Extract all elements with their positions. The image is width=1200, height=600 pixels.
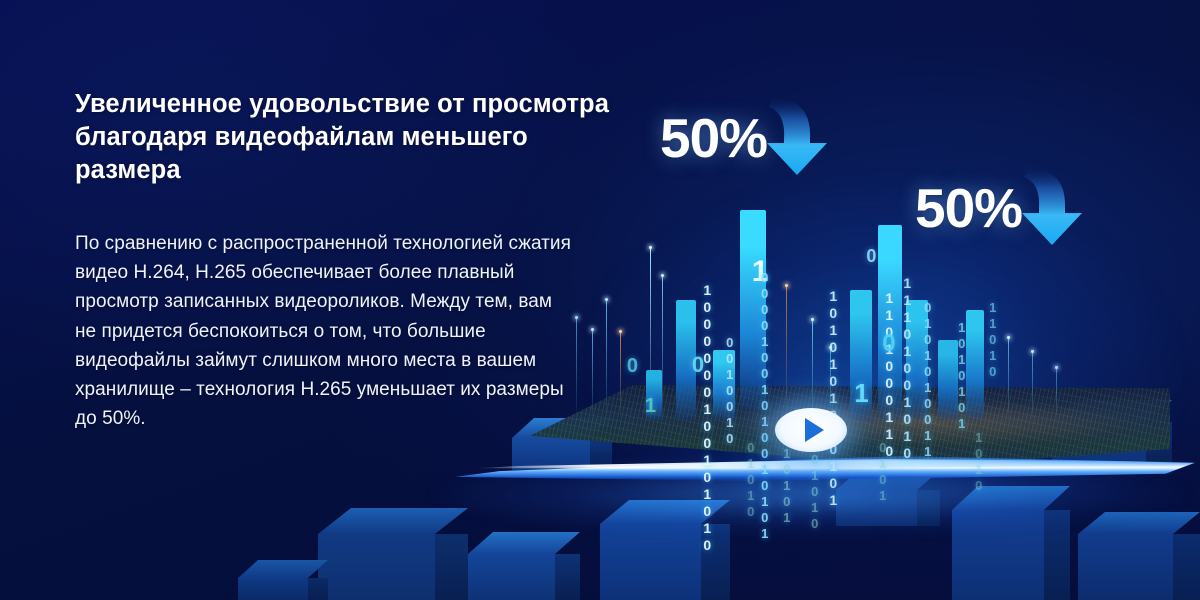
binary-digit-column: 1 <box>640 395 660 418</box>
data-pin-dot <box>619 330 622 333</box>
body-paragraph: По сравнению с распространенной технолог… <box>75 229 575 433</box>
iso-block <box>238 560 328 600</box>
binary-digit-column: 0 <box>862 246 880 267</box>
down-arrow-icon <box>765 93 829 184</box>
binary-digit-column: 1010101010101 <box>826 288 840 509</box>
infographic-banner: 1000000100101010001001010000100101001010… <box>0 0 1200 600</box>
iso-block <box>468 532 580 600</box>
iso-block-front <box>238 578 308 600</box>
binary-digit-column: 11010 <box>986 300 999 380</box>
iso-block-side <box>1173 534 1200 600</box>
play-button[interactable] <box>775 408 847 452</box>
play-triangle-icon <box>805 418 824 442</box>
stat-badge-2: 50% <box>915 163 1084 254</box>
data-pin-dot <box>649 246 652 249</box>
binary-digit-column: 1101000110 <box>882 290 896 460</box>
binary-digit-column: 01010 <box>744 440 757 520</box>
data-pin <box>1032 352 1033 422</box>
binary-digit-column: 0101 <box>876 440 889 504</box>
iso-block-front <box>1078 534 1173 600</box>
data-pin <box>662 276 663 418</box>
iso-block-side <box>435 534 468 600</box>
data-pin <box>1008 338 1009 422</box>
binary-digit-column: 0101010011 <box>921 300 934 460</box>
binary-digit-column: 11101001010 <box>900 275 914 462</box>
data-pin-dot <box>785 284 788 287</box>
stat-badge-1: 50% <box>660 93 829 184</box>
copy-block: Увеличенное удовольствие от просмотра бл… <box>75 88 615 433</box>
data-pin-dot <box>1031 350 1034 353</box>
binary-digit-column: 0010010 <box>723 335 736 447</box>
data-pin-dot <box>1007 336 1010 339</box>
binary-digit-column: 00001001010010101 <box>758 270 771 542</box>
down-arrow-icon <box>1020 163 1084 254</box>
iso-block-side <box>308 578 328 600</box>
iso-block-side <box>555 554 580 600</box>
data-pin <box>1056 368 1057 422</box>
data-pin-dot <box>1055 366 1058 369</box>
binary-digit-column: 1010101 <box>955 320 968 432</box>
data-pin-dot <box>811 318 814 321</box>
binary-digit-column: 1010 <box>972 430 985 494</box>
binary-digit-column: 0 <box>622 355 642 378</box>
data-pin <box>786 286 787 420</box>
binary-digit-column: 0 <box>876 330 900 358</box>
page-title: Увеличенное удовольствие от просмотра бл… <box>75 88 615 187</box>
binary-digit-column: 1 <box>848 378 875 409</box>
data-pin <box>812 320 813 420</box>
binary-digit-column: 1000000100101010 <box>700 282 714 554</box>
data-pin-dot <box>661 274 664 277</box>
binary-digit-column: 0 <box>686 352 708 378</box>
iso-block-top <box>468 532 580 554</box>
iso-block-front <box>468 554 555 600</box>
stat-badge-1-value: 50% <box>660 111 767 166</box>
iso-block-front <box>318 534 435 600</box>
stat-badge-2-value: 50% <box>915 181 1022 236</box>
iso-block-top <box>238 560 328 578</box>
iso-block-front <box>600 524 701 600</box>
